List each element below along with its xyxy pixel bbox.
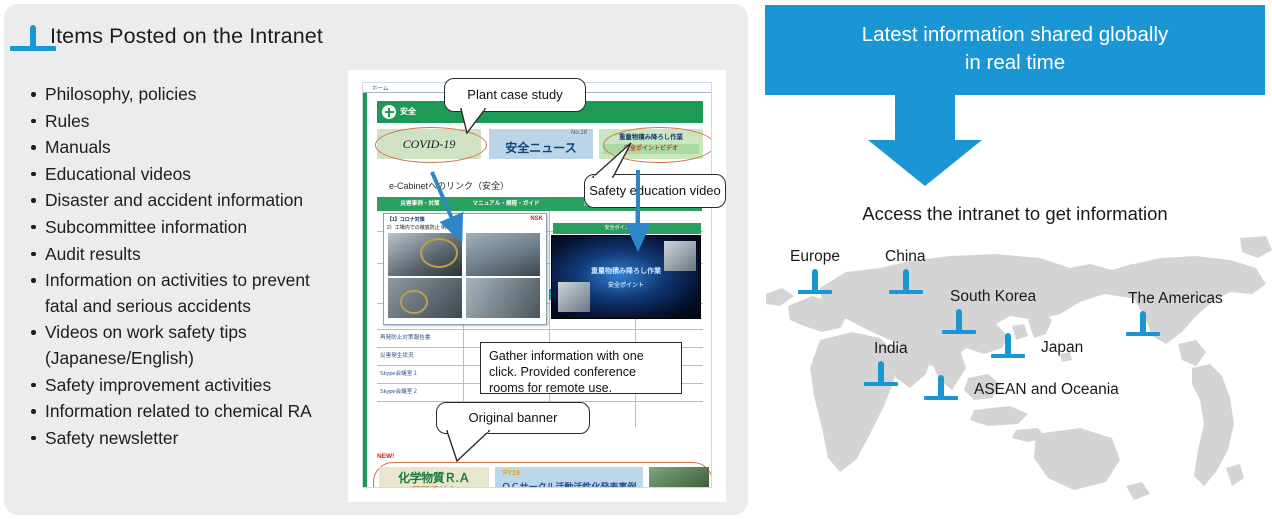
screenshot-left-rail [363,93,367,487]
callout-tail [445,431,495,465]
new-tag: NEW! [377,453,394,460]
list-item: Subcommittee information [28,215,328,241]
tab-manuals[interactable]: マニュアル・規程・ガイド [463,197,550,211]
laptop-icon [1140,314,1146,332]
laptop-icon [903,272,909,290]
map-pin-asean-and-oceania-label: ASEAN and Oceania [974,381,1119,399]
laptop-icon [878,364,884,382]
list-item: Videos on work safety tips (Japanese/Eng… [28,320,328,371]
popup-badge: NSK [530,216,543,222]
highlight-ring [420,238,458,268]
banner-fy19[interactable]: FY19 ＱＣサークル活動活性化発表事例 [495,467,643,488]
popup-photo [466,278,540,318]
callout-original-banner: Original banner [436,402,590,434]
globally-shared-banner: Latest information shared globally in re… [765,5,1265,95]
list-item: Information on activities to prevent fat… [28,268,328,319]
world-map: Europe China South Korea The Americas In [760,228,1272,513]
left-panel: Items Posted on the Intranet Philosophy,… [4,4,748,515]
laptop-icon [938,378,944,396]
tile-safety-news-label: 安全ニュース [489,139,593,156]
callout-plant-case-study-text: Plant case study [467,87,562,103]
slide-canvas: Items Posted on the Intranet Philosophy,… [0,0,1272,519]
map-pin-asean-and-oceania[interactable]: ASEAN and Oceania [938,378,944,396]
tab-label: マニュアル・規程・ガイド [463,197,549,211]
list-item: Audit results [28,242,328,268]
callout-safety-education-video: Safety education video [584,174,726,208]
video-title-label: 安全ポイントビデオ [553,223,701,234]
map-pin-the-americas-label: The Americas [1128,290,1223,308]
video-title-strip: 安全ポイントビデオ [553,223,701,234]
world-map-shape [760,228,1272,513]
callout-gather-information: Gather information with one click. Provi… [480,342,682,394]
banner-fy19-text: ＱＣサークル活動活性化発表事例 [501,480,637,488]
banner-line-2: in real time [965,51,1065,74]
map-pin-south-korea-label: South Korea [950,288,1036,306]
list-item: Safety improvement activities [28,373,328,399]
laptop-icon [812,272,818,290]
page-title-text: Items Posted on the Intranet [50,24,323,49]
banner-text: Latest information shared globally in re… [765,21,1265,77]
list-item: Philosophy, policies [28,82,328,108]
video-caption-2: 安全ポイント [552,280,700,289]
map-title: Access the intranet to get information [765,203,1265,225]
banner-chemical-ra-line2: 質問受付中 [379,484,489,488]
callout-safety-education-video-text: Safety education video [589,183,721,199]
callout-original-banner-text: Original banner [469,410,558,426]
list-item: Information related to chemical RA [28,399,328,425]
map-pin-india-label: India [874,340,908,358]
tab-label: 災害事例・対策 [377,197,463,211]
list-item: Manuals [28,135,328,161]
map-pin-south-korea[interactable]: South Korea [956,312,962,330]
map-pin-india[interactable]: India [878,364,884,382]
list-item: Disaster and accident information [28,188,328,214]
video-caption-1: 重量物積み降ろし作業 [552,266,700,276]
popup-title: 【1】コロナ対策 [387,216,425,223]
list-item: Safety newsletter [28,426,328,452]
popup-photo [466,233,540,276]
map-pin-japan-label: Japan [1041,339,1083,357]
safety-header-label: 安全 [400,106,416,117]
callout-plant-case-study: Plant case study [444,78,586,112]
list-item: Educational videos [28,162,328,188]
row-label: 再発防止対策報告書 [380,333,430,341]
ecabinet-link[interactable]: e-Cabinetへのリンク（安全） [389,179,509,192]
map-pin-europe-label: Europe [790,248,840,266]
banner-photo[interactable] [649,467,709,488]
map-pin-europe[interactable]: Europe [812,272,818,290]
page-title: Items Posted on the Intranet [30,24,323,49]
banner-fy19-year: FY19 [503,470,520,477]
grid-line [377,329,703,330]
callout-tail [459,109,489,135]
popup-subtitle: 2）工場内での徹底防止 例 [387,224,446,231]
list-item: Rules [28,109,328,135]
row-label: Skype会議室２ [380,387,418,395]
row-label: Skype会議室１ [380,369,418,377]
map-pin-the-americas[interactable]: The Americas [1140,314,1146,332]
posted-items-list: Philosophy, policies Rules Manuals Educa… [28,82,328,452]
banner-chemical-ra[interactable]: 化学物質Ｒ.Ａ 質問受付中 [379,467,489,488]
tile-safety-news[interactable]: No.18 安全ニュース [489,129,593,159]
map-pin-japan[interactable]: Japan [1005,336,1011,354]
map-pin-china[interactable]: China [903,272,909,290]
row-label: 災害発生状況 [380,351,414,359]
intranet-screenshot-card: ホーム 安全 COVID-19 No.18 安全ニュース 重量物積み降ろし作 [348,70,726,502]
breadcrumb: ホーム [372,84,388,92]
laptop-icon [1005,336,1011,354]
banner-line-1: Latest information shared globally [862,23,1169,46]
tile-safety-news-issue: No.18 [571,130,587,136]
map-pin-china-label: China [885,248,926,266]
video-thumbnail[interactable]: 重量物積み降ろし作業 安全ポイント [551,235,701,319]
laptop-icon [30,28,36,46]
plus-icon [382,105,396,119]
callout-tail [591,151,635,179]
tab-disaster-cases[interactable]: 災害事例・対策 [377,197,464,211]
case-study-popup[interactable]: 【1】コロナ対策 NSK 2）工場内での徹底防止 例 [383,213,547,325]
highlight-ring [400,290,428,314]
callout-gather-information-text: Gather information with one click. Provi… [489,348,673,396]
laptop-icon [956,312,962,330]
